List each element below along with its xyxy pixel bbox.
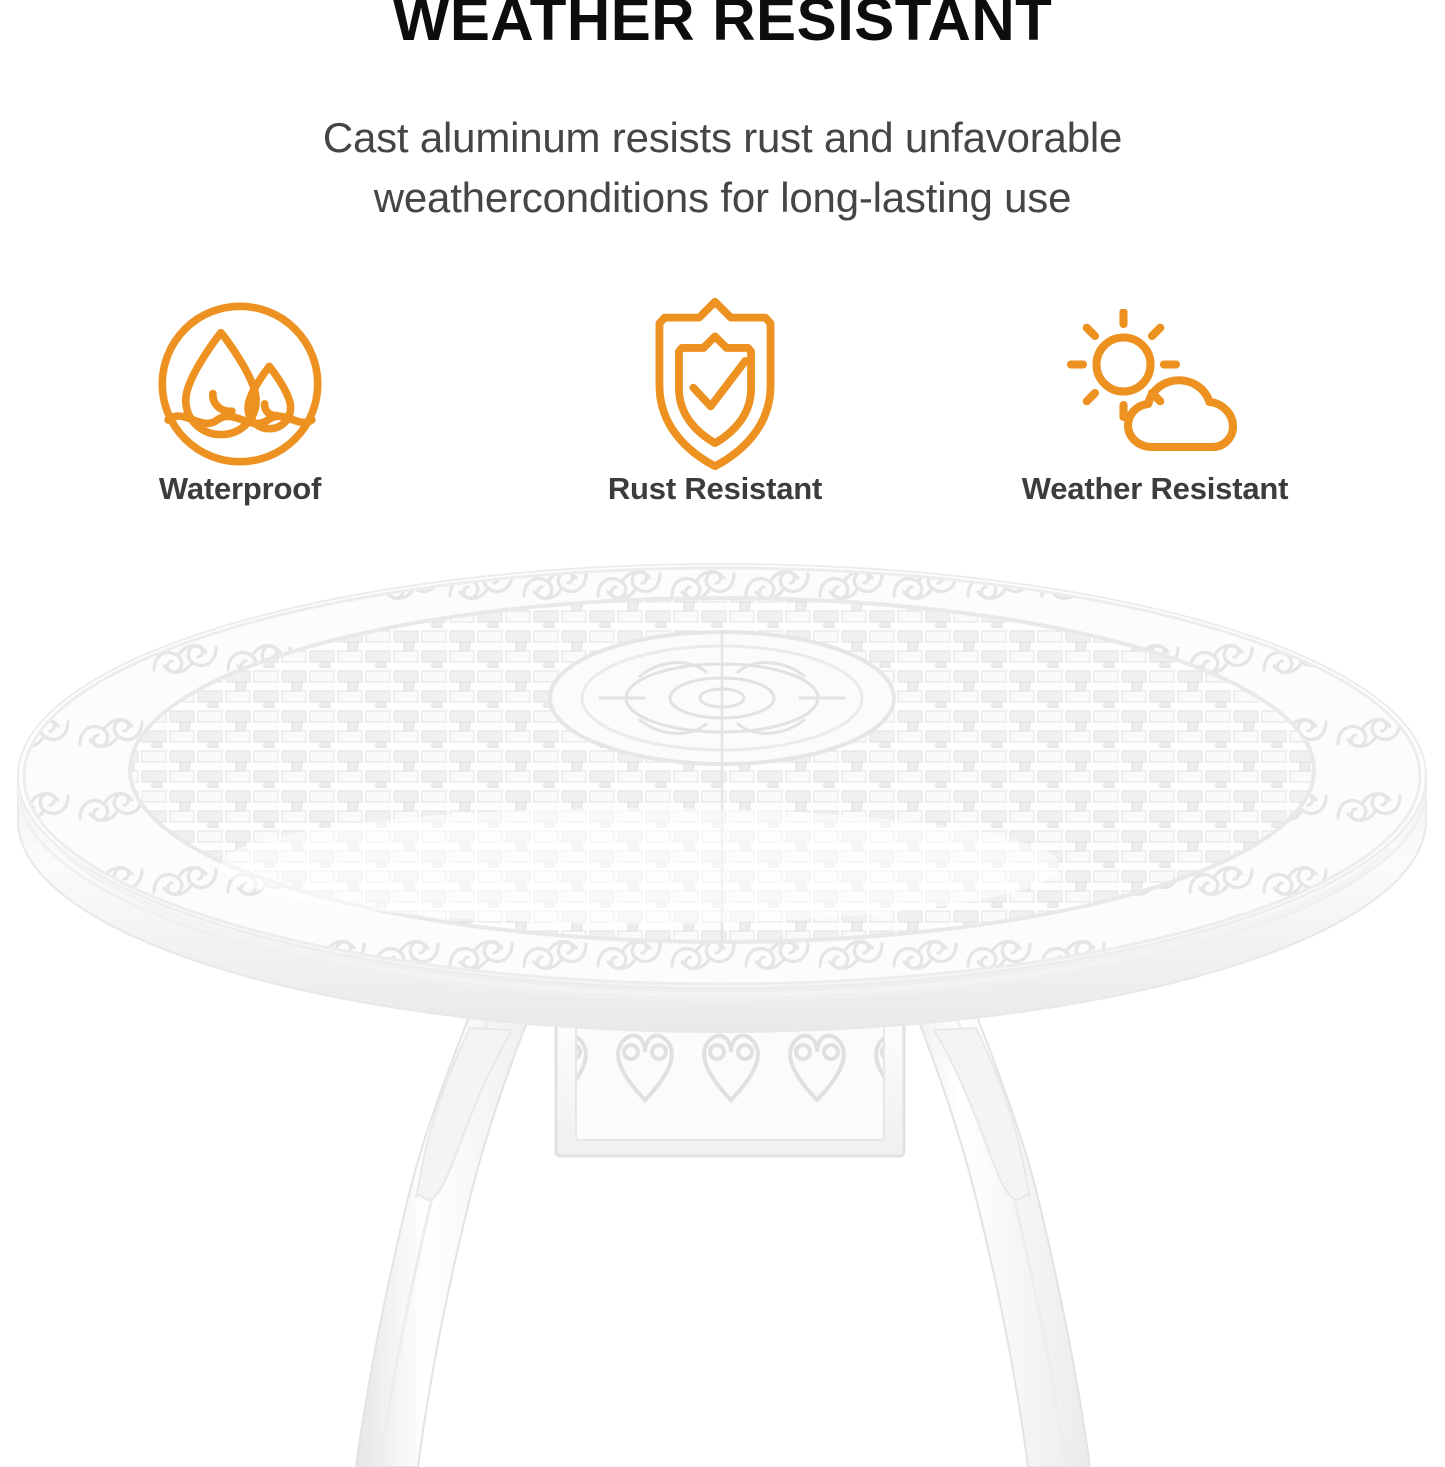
feature-label-rust-resistant: Rust Resistant xyxy=(545,471,885,507)
product-image-patio-table xyxy=(0,548,1445,1467)
shield-check-icon xyxy=(545,296,885,471)
feature-rust-resistant: Rust Resistant xyxy=(545,296,885,546)
subtitle-line-2: weatherconditions for long-lasting use xyxy=(0,168,1445,228)
feature-label-waterproof: Waterproof xyxy=(70,471,410,507)
table-top-surface xyxy=(18,564,1426,988)
product-infographic: WEATHER RESISTANT Cast aluminum resists … xyxy=(0,0,1445,1467)
feature-badge-row: Waterproof Rust Resistant xyxy=(0,296,1445,546)
subtitle-line-1: Cast aluminum resists rust and unfavorab… xyxy=(323,114,1122,161)
page-title: WEATHER RESISTANT xyxy=(0,0,1445,50)
feature-weather-resistant: Weather Resistant xyxy=(985,296,1325,546)
feature-waterproof: Waterproof xyxy=(70,296,410,546)
sun-cloud-icon xyxy=(985,296,1325,471)
waterproof-icon xyxy=(70,296,410,471)
feature-label-weather-resistant: Weather Resistant xyxy=(985,471,1325,507)
page-subtitle: Cast aluminum resists rust and unfavorab… xyxy=(0,108,1445,227)
